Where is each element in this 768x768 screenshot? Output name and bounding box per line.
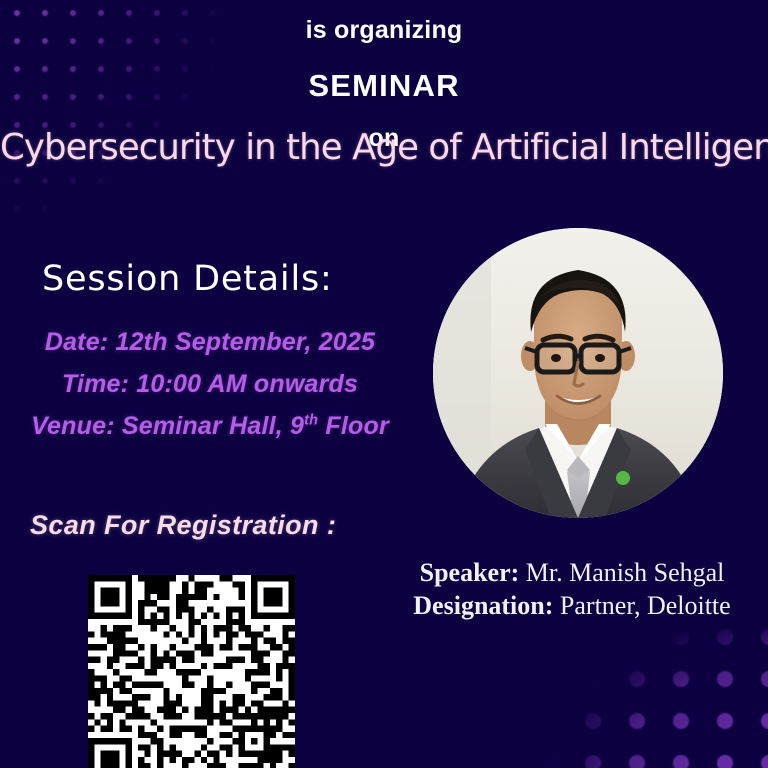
speaker-name-row: Speaker: Mr. Manish Sehgal	[386, 556, 758, 589]
header-seminar: SEMINAR	[0, 70, 768, 101]
venue-prefix: Venue: Seminar Hall, 9	[31, 412, 304, 440]
speaker-designation-row: Designation: Partner, Deloitte	[386, 589, 758, 622]
seminar-poster: is organizing SEMINAR on Cybersecurity i…	[0, 0, 768, 768]
venue-suffix: Floor	[318, 412, 389, 440]
speaker-designation-label: Designation:	[413, 591, 553, 620]
speaker-name-label: Speaker:	[420, 558, 520, 587]
scan-for-registration-label: Scan For Registration :	[30, 510, 336, 541]
registration-qr-code[interactable]	[88, 575, 295, 768]
session-details-list: Date: 12th September, 2025 Time: 10:00 A…	[0, 330, 420, 456]
session-details-heading: Session Details:	[42, 259, 333, 299]
speaker-name-value: Mr. Manish Sehgal	[526, 558, 725, 587]
session-date: Date: 12th September, 2025	[0, 330, 420, 355]
page-title: Cybersecurity in the Age of Artificial I…	[0, 127, 768, 168]
speaker-designation-value: Partner, Deloitte	[560, 591, 731, 620]
session-time: Time: 10:00 AM onwards	[0, 372, 420, 397]
speaker-info-block: Speaker: Mr. Manish Sehgal Designation: …	[386, 556, 758, 623]
speaker-portrait	[433, 228, 723, 518]
session-venue: Venue: Seminar Hall, 9th Floor	[0, 414, 420, 439]
venue-ordinal-suffix: th	[304, 413, 318, 429]
header-is-organizing: is organizing	[0, 18, 768, 43]
